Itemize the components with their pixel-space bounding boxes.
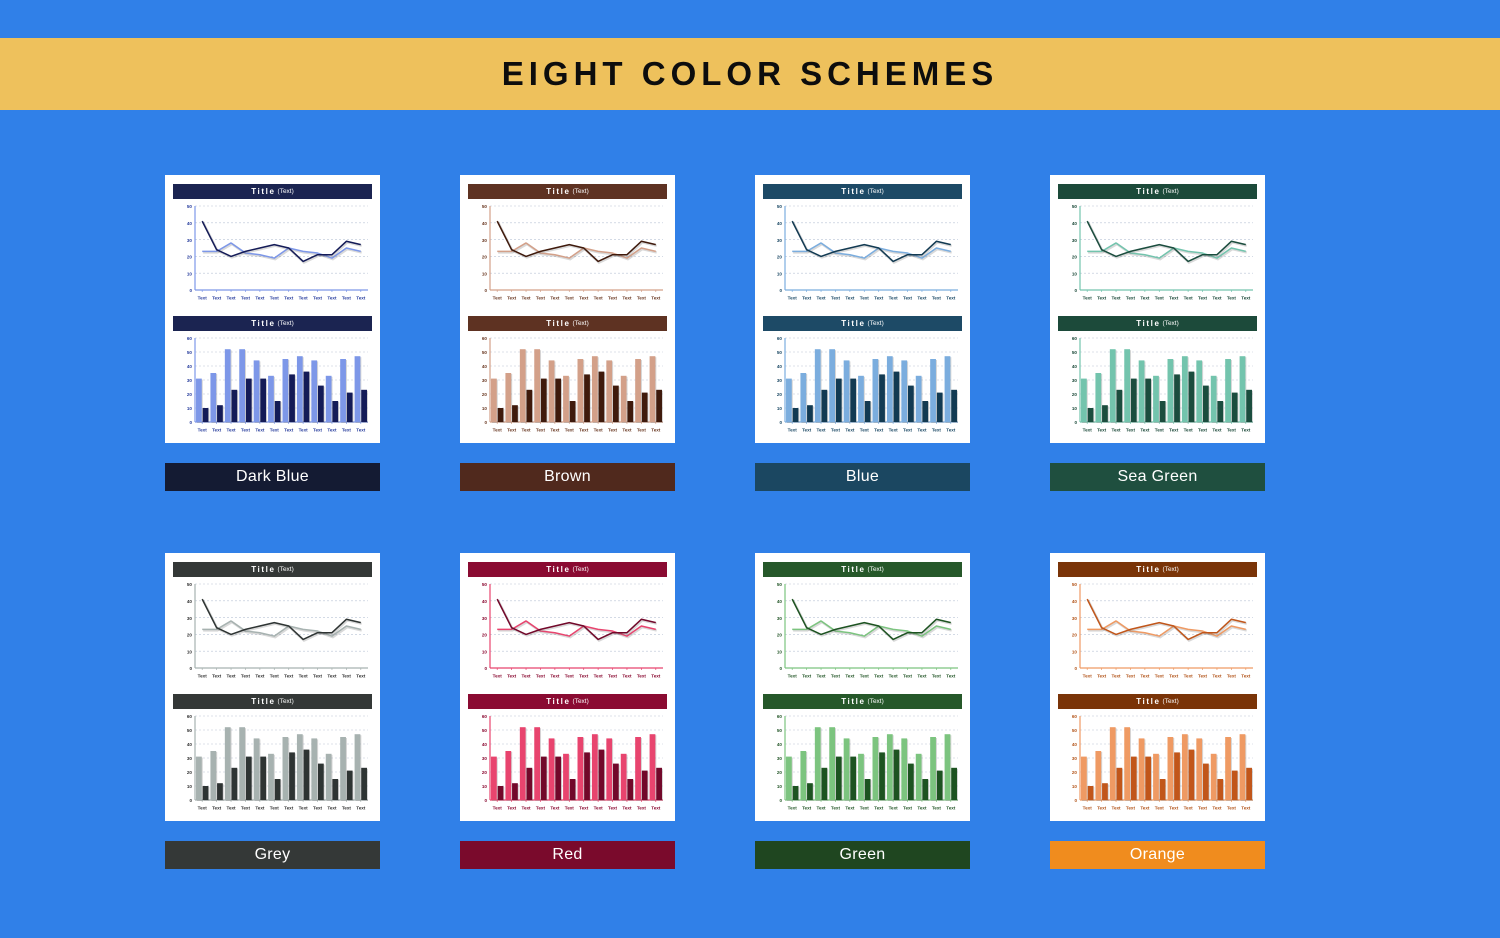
x-axis-tick-label: Text: [845, 674, 855, 679]
bar-light: [534, 727, 540, 800]
color-scheme-card[interactable]: Title(Text)01020304050TextTextTextTextTe…: [460, 175, 675, 491]
x-axis-tick-label: Text: [198, 806, 208, 811]
bar-dark: [289, 374, 295, 422]
x-axis-tick-label: Text: [1184, 806, 1194, 811]
bar-dark: [203, 786, 209, 800]
bar-dark: [937, 393, 943, 422]
color-scheme-card[interactable]: Title(Text)01020304050TextTextTextTextTe…: [1050, 175, 1265, 491]
y-axis-tick-label: 40: [1072, 742, 1078, 747]
bar-dark: [850, 757, 856, 800]
y-axis-tick-label: 10: [482, 406, 488, 411]
y-axis-tick-label: 60: [187, 714, 193, 719]
chart-title-sub: (Text): [868, 188, 884, 195]
bar-light: [1168, 359, 1174, 422]
y-axis-tick-label: 50: [482, 582, 488, 587]
x-axis-tick-label: Text: [860, 296, 870, 301]
y-axis-tick-label: 20: [777, 770, 783, 775]
x-axis-tick-label: Text: [1169, 806, 1179, 811]
chart-title-sub: (Text): [573, 188, 589, 195]
chart-preview-card: Title(Text)01020304050TextTextTextTextTe…: [755, 175, 970, 443]
x-axis-tick-label: Text: [860, 674, 870, 679]
y-axis-tick-label: 0: [189, 666, 192, 671]
plot-area: 01020304050TextTextTextTextTextTextTextT…: [173, 580, 372, 682]
bar-light: [355, 356, 361, 422]
x-axis-tick-label: Text: [299, 674, 309, 679]
x-axis-tick-label: Text: [1198, 296, 1208, 301]
x-axis-tick-label: Text: [536, 806, 546, 811]
scheme-name-label[interactable]: Green: [755, 841, 970, 869]
color-scheme-card[interactable]: Title(Text)01020304050TextTextTextTextTe…: [165, 553, 380, 869]
chart-title-bar: Title(Text): [1058, 184, 1257, 199]
bar-dark: [937, 771, 943, 800]
x-axis-tick-label: Text: [1227, 806, 1237, 811]
y-axis-tick-label: 10: [1072, 271, 1078, 276]
x-axis-tick-label: Text: [637, 674, 647, 679]
chart-preview-card: Title(Text)01020304050TextTextTextTextTe…: [1050, 175, 1265, 443]
x-axis-tick-label: Text: [270, 296, 280, 301]
bar-dark: [246, 379, 252, 422]
plot-area: 01020304050TextTextTextTextTextTextTextT…: [173, 202, 372, 304]
y-axis-tick-label: 10: [777, 784, 783, 789]
x-axis-tick-label: Text: [226, 674, 236, 679]
bar-light: [858, 376, 864, 422]
x-axis-tick-label: Text: [255, 674, 265, 679]
y-axis-tick-label: 30: [1072, 238, 1078, 243]
bar-dark: [865, 401, 871, 422]
x-axis-tick-label: Text: [1097, 296, 1107, 301]
y-axis-tick-label: 20: [482, 770, 488, 775]
bar-light: [930, 737, 936, 800]
bar-dark: [1116, 768, 1122, 800]
x-axis-tick-label: Text: [1126, 674, 1136, 679]
bar-dark: [260, 757, 266, 800]
bar-dark: [347, 771, 353, 800]
x-axis-tick-label: Text: [270, 674, 280, 679]
bar-dark: [570, 401, 576, 422]
bar-light: [815, 727, 821, 800]
bar-light: [491, 379, 497, 422]
scheme-name-label[interactable]: Brown: [460, 463, 675, 491]
bar-dark: [541, 379, 547, 422]
y-axis-tick-label: 40: [777, 364, 783, 369]
bar-light: [945, 356, 951, 422]
x-axis-tick-label: Text: [579, 296, 589, 301]
y-axis-tick-label: 40: [777, 742, 783, 747]
x-axis-tick-label: Text: [579, 674, 589, 679]
bar-dark: [526, 768, 532, 800]
bar-chart: 0102030405060TextTextTextTextTextTextTex…: [173, 334, 372, 436]
y-axis-tick-label: 50: [1072, 350, 1078, 355]
bar-light: [340, 359, 346, 422]
x-axis-tick-label: Text: [874, 806, 884, 811]
x-axis-tick-label: Text: [1155, 806, 1165, 811]
x-axis-tick-label: Text: [845, 428, 855, 433]
x-axis-tick-label: Text: [550, 428, 560, 433]
x-axis-tick-label: Text: [241, 806, 251, 811]
y-axis-tick-label: 10: [1072, 784, 1078, 789]
scheme-name-label[interactable]: Orange: [1050, 841, 1265, 869]
color-scheme-card[interactable]: Title(Text)01020304050TextTextTextTextTe…: [755, 175, 970, 491]
scheme-name-label[interactable]: Red: [460, 841, 675, 869]
plot-area: 01020304050TextTextTextTextTextTextTextT…: [763, 202, 962, 304]
x-axis-tick-label: Text: [622, 674, 632, 679]
y-axis-tick-label: 30: [1072, 616, 1078, 621]
x-axis-tick-label: Text: [1111, 674, 1121, 679]
bar-light: [887, 356, 893, 422]
bar-light: [520, 727, 526, 800]
x-axis-tick-label: Text: [889, 428, 899, 433]
y-axis-tick-label: 30: [777, 378, 783, 383]
chart-preview-card: Title(Text)01020304050TextTextTextTextTe…: [460, 175, 675, 443]
y-axis-tick-label: 40: [482, 221, 488, 226]
y-axis-tick-label: 0: [484, 288, 487, 293]
bar-light: [621, 754, 627, 800]
bar-dark: [332, 401, 338, 422]
x-axis-tick-label: Text: [270, 428, 280, 433]
bar-light: [254, 738, 260, 800]
bar-dark: [275, 401, 281, 422]
chart-title-sub: (Text): [278, 320, 294, 327]
y-axis-tick-label: 40: [1072, 364, 1078, 369]
x-axis-tick-label: Text: [608, 674, 618, 679]
x-axis-tick-label: Text: [284, 806, 294, 811]
bar-light: [592, 356, 598, 422]
x-axis-tick-label: Text: [946, 296, 956, 301]
bar-light: [491, 757, 497, 800]
chart-title-main: Title: [841, 565, 865, 574]
bar-dark: [1246, 768, 1252, 800]
bar-light: [635, 359, 641, 422]
x-axis-tick-label: Text: [327, 806, 337, 811]
x-axis-tick-label: Text: [874, 296, 884, 301]
chart-title-bar: Title(Text): [1058, 562, 1257, 577]
chart-title-main: Title: [546, 187, 570, 196]
bar-dark: [526, 390, 532, 422]
chart-title-main: Title: [1136, 697, 1160, 706]
bar-light: [635, 737, 641, 800]
bar-dark: [584, 374, 590, 422]
bar-light: [930, 359, 936, 422]
y-axis-tick-label: 50: [777, 728, 783, 733]
y-axis-tick-label: 0: [1074, 798, 1077, 803]
bar-light: [196, 379, 202, 422]
bar-dark: [498, 408, 504, 422]
x-axis-tick-label: Text: [226, 428, 236, 433]
x-axis-tick-label: Text: [550, 806, 560, 811]
bar-dark: [203, 408, 209, 422]
y-axis-tick-label: 60: [187, 336, 193, 341]
x-axis-tick-label: Text: [198, 428, 208, 433]
y-axis-tick-label: 50: [187, 204, 193, 209]
y-axis-tick-label: 40: [187, 599, 193, 604]
x-axis-tick-label: Text: [594, 806, 604, 811]
scheme-name-label[interactable]: Sea Green: [1050, 463, 1265, 491]
bar-dark: [627, 779, 633, 800]
x-axis-tick-label: Text: [1155, 296, 1165, 301]
bar-dark: [613, 764, 619, 800]
bar-dark: [1189, 372, 1195, 422]
chart-block: Title(Text)01020304050TextTextTextTextTe…: [468, 184, 667, 304]
x-axis-tick-label: Text: [594, 296, 604, 301]
y-axis-tick-label: 50: [1072, 582, 1078, 587]
x-axis-tick-label: Text: [342, 296, 352, 301]
bar-dark: [555, 757, 561, 800]
chart-preview-card: Title(Text)01020304050TextTextTextTextTe…: [755, 553, 970, 821]
bar-dark: [821, 390, 827, 422]
color-scheme-card[interactable]: Title(Text)01020304050TextTextTextTextTe…: [165, 175, 380, 491]
x-axis-tick-label: Text: [932, 806, 942, 811]
bar-light: [225, 349, 231, 422]
x-axis-tick-label: Text: [608, 428, 618, 433]
bar-dark: [951, 768, 957, 800]
bar-light: [520, 349, 526, 422]
x-axis-tick-label: Text: [356, 674, 366, 679]
bar-dark: [1131, 757, 1137, 800]
x-axis-tick-label: Text: [608, 806, 618, 811]
scheme-name-label[interactable]: Grey: [165, 841, 380, 869]
x-axis-tick-label: Text: [651, 296, 661, 301]
y-axis-tick-label: 0: [484, 666, 487, 671]
x-axis-tick-label: Text: [507, 674, 517, 679]
y-axis-tick-label: 40: [187, 742, 193, 747]
y-axis-tick-label: 50: [482, 204, 488, 209]
x-axis-tick-label: Text: [608, 296, 618, 301]
y-axis-tick-label: 30: [777, 616, 783, 621]
bar-light: [1124, 349, 1130, 422]
x-axis-tick-label: Text: [816, 674, 826, 679]
x-axis-tick-label: Text: [241, 674, 251, 679]
x-axis-tick-label: Text: [1140, 428, 1150, 433]
bar-light: [210, 373, 216, 422]
bar-dark: [570, 779, 576, 800]
bar-light: [873, 737, 879, 800]
chart-preview-card: Title(Text)01020304050TextTextTextTextTe…: [460, 553, 675, 821]
y-axis-tick-label: 40: [482, 599, 488, 604]
bar-light: [1124, 727, 1130, 800]
bar-light: [355, 734, 361, 800]
bar-chart: 0102030405060TextTextTextTextTextTextTex…: [1058, 712, 1257, 814]
bar-dark: [332, 779, 338, 800]
x-axis-tick-label: Text: [212, 428, 222, 433]
y-axis-tick-label: 20: [1072, 392, 1078, 397]
chart-title-main: Title: [841, 187, 865, 196]
chart-block: Title(Text)0102030405060TextTextTextText…: [763, 694, 962, 814]
x-axis-tick-label: Text: [327, 674, 337, 679]
bar-dark: [879, 752, 885, 800]
x-axis-tick-label: Text: [788, 296, 798, 301]
x-axis-tick-label: Text: [198, 296, 208, 301]
y-axis-tick-label: 30: [482, 616, 488, 621]
bar-light: [1196, 738, 1202, 800]
x-axis-tick-label: Text: [802, 428, 812, 433]
y-axis-tick-label: 40: [482, 742, 488, 747]
bar-light: [1182, 356, 1188, 422]
x-axis-tick-label: Text: [1111, 428, 1121, 433]
y-axis-tick-label: 30: [482, 378, 488, 383]
y-axis-tick-label: 10: [187, 406, 193, 411]
y-axis-tick-label: 20: [187, 392, 193, 397]
chart-block: Title(Text)01020304050TextTextTextTextTe…: [173, 562, 372, 682]
x-axis-tick-label: Text: [889, 806, 899, 811]
line-chart: 01020304050TextTextTextTextTextTextTextT…: [468, 580, 667, 682]
chart-title-sub: (Text): [1163, 188, 1179, 195]
color-schemes-grid: Title(Text)01020304050TextTextTextTextTe…: [165, 175, 1265, 869]
x-axis-tick-label: Text: [874, 674, 884, 679]
y-axis-tick-label: 60: [1072, 714, 1078, 719]
bar-light: [283, 359, 289, 422]
x-axis-tick-label: Text: [917, 674, 927, 679]
x-axis-tick-label: Text: [327, 428, 337, 433]
bar-dark: [217, 783, 223, 800]
y-axis-tick-label: 20: [187, 633, 193, 638]
bar-light: [916, 754, 922, 800]
chart-block: Title(Text)0102030405060TextTextTextText…: [1058, 316, 1257, 436]
x-axis-tick-label: Text: [651, 806, 661, 811]
x-axis-tick-label: Text: [299, 428, 309, 433]
bar-light: [1095, 373, 1101, 422]
bar-light: [283, 737, 289, 800]
plot-area: 0102030405060TextTextTextTextTextTextTex…: [763, 334, 962, 436]
bar-dark: [642, 393, 648, 422]
y-axis-tick-label: 10: [1072, 406, 1078, 411]
y-axis-tick-label: 60: [777, 336, 783, 341]
y-axis-tick-label: 40: [1072, 221, 1078, 226]
bar-dark: [850, 379, 856, 422]
bar-dark: [656, 390, 662, 422]
chart-title-main: Title: [546, 319, 570, 328]
x-axis-tick-label: Text: [594, 674, 604, 679]
line-chart: 01020304050TextTextTextTextTextTextTextT…: [173, 580, 372, 682]
bar-light: [1153, 754, 1159, 800]
x-axis-tick-label: Text: [831, 296, 841, 301]
chart-block: Title(Text)01020304050TextTextTextTextTe…: [763, 184, 962, 304]
y-axis-tick-label: 40: [482, 364, 488, 369]
x-axis-tick-label: Text: [1111, 806, 1121, 811]
bar-light: [196, 757, 202, 800]
bar-light: [606, 738, 612, 800]
x-axis-tick-label: Text: [198, 674, 208, 679]
plot-area: 0102030405060TextTextTextTextTextTextTex…: [763, 712, 962, 814]
scheme-name-label[interactable]: Blue: [755, 463, 970, 491]
y-axis-tick-label: 10: [777, 406, 783, 411]
bar-dark: [951, 390, 957, 422]
bar-dark: [275, 779, 281, 800]
bar-chart: 0102030405060TextTextTextTextTextTextTex…: [468, 712, 667, 814]
x-axis-tick-label: Text: [860, 428, 870, 433]
bar-light: [297, 356, 303, 422]
y-axis-tick-label: 60: [1072, 336, 1078, 341]
bar-light: [1211, 754, 1217, 800]
bar-dark: [865, 779, 871, 800]
chart-title-bar: Title(Text): [468, 562, 667, 577]
color-scheme-card[interactable]: Title(Text)01020304050TextTextTextTextTe…: [755, 553, 970, 869]
bar-light: [326, 376, 332, 422]
x-axis-tick-label: Text: [637, 806, 647, 811]
y-axis-tick-label: 30: [187, 238, 193, 243]
bar-dark: [793, 408, 799, 422]
bar-dark: [1203, 764, 1209, 800]
x-axis-tick-label: Text: [1111, 296, 1121, 301]
chart-title-bar: Title(Text): [173, 562, 372, 577]
y-axis-tick-label: 30: [1072, 756, 1078, 761]
color-scheme-card[interactable]: Title(Text)01020304050TextTextTextTextTe…: [460, 553, 675, 869]
x-axis-tick-label: Text: [946, 806, 956, 811]
plot-area: 0102030405060TextTextTextTextTextTextTex…: [468, 712, 667, 814]
x-axis-tick-label: Text: [917, 296, 927, 301]
x-axis-tick-label: Text: [831, 674, 841, 679]
x-axis-tick-label: Text: [1097, 806, 1107, 811]
x-axis-tick-label: Text: [1140, 806, 1150, 811]
x-axis-tick-label: Text: [1198, 428, 1208, 433]
chart-title-sub: (Text): [1163, 698, 1179, 705]
bar-dark: [512, 405, 518, 422]
x-axis-tick-label: Text: [1241, 428, 1251, 433]
bar-dark: [361, 768, 367, 800]
bar-dark: [807, 783, 813, 800]
x-axis-tick-label: Text: [536, 428, 546, 433]
bar-light: [1153, 376, 1159, 422]
x-axis-tick-label: Text: [816, 428, 826, 433]
y-axis-tick-label: 50: [482, 350, 488, 355]
bar-light: [945, 734, 951, 800]
chart-block: Title(Text)0102030405060TextTextTextText…: [468, 694, 667, 814]
chart-title-main: Title: [1136, 565, 1160, 574]
bar-dark: [361, 390, 367, 422]
color-scheme-card[interactable]: Title(Text)01020304050TextTextTextTextTe…: [1050, 553, 1265, 869]
y-axis-tick-label: 10: [187, 649, 193, 654]
bar-light: [311, 360, 317, 422]
y-axis-tick-label: 10: [187, 271, 193, 276]
bar-light: [326, 754, 332, 800]
bar-light: [786, 379, 792, 422]
y-axis-tick-label: 50: [777, 582, 783, 587]
bar-dark: [599, 750, 605, 800]
x-axis-tick-label: Text: [816, 296, 826, 301]
chart-title-main: Title: [546, 697, 570, 706]
y-axis-tick-label: 50: [777, 204, 783, 209]
y-axis-tick-label: 20: [187, 770, 193, 775]
bar-light: [268, 376, 274, 422]
y-axis-tick-label: 30: [777, 756, 783, 761]
bar-dark: [318, 386, 324, 422]
chart-title-sub: (Text): [1163, 566, 1179, 573]
bar-dark: [807, 405, 813, 422]
y-axis-tick-label: 10: [1072, 649, 1078, 654]
chart-title-sub: (Text): [278, 698, 294, 705]
x-axis-tick-label: Text: [946, 674, 956, 679]
y-axis-tick-label: 50: [187, 728, 193, 733]
x-axis-tick-label: Text: [521, 806, 531, 811]
bar-dark: [318, 764, 324, 800]
bar-light: [505, 751, 511, 800]
scheme-name-label[interactable]: Dark Blue: [165, 463, 380, 491]
x-axis-tick-label: Text: [1241, 806, 1251, 811]
bar-dark: [1088, 408, 1094, 422]
chart-title-sub: (Text): [868, 698, 884, 705]
x-axis-tick-label: Text: [946, 428, 956, 433]
y-axis-tick-label: 0: [1074, 666, 1077, 671]
y-axis-tick-label: 60: [482, 336, 488, 341]
chart-title-sub: (Text): [868, 320, 884, 327]
x-axis-tick-label: Text: [1083, 806, 1093, 811]
y-axis-tick-label: 0: [189, 798, 192, 803]
plot-area: 01020304050TextTextTextTextTextTextTextT…: [763, 580, 962, 682]
bar-dark: [555, 379, 561, 422]
y-axis-tick-label: 10: [482, 649, 488, 654]
y-axis-tick-label: 0: [779, 798, 782, 803]
bar-dark: [304, 372, 310, 422]
bar-dark: [289, 752, 295, 800]
